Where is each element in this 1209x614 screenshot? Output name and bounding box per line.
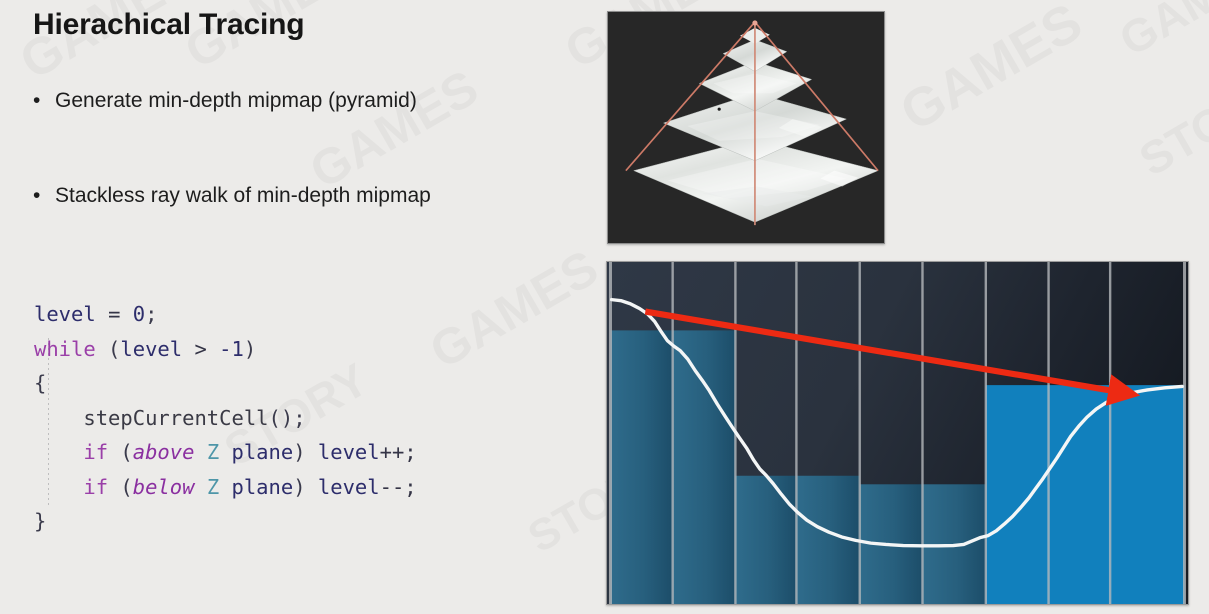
slide-root: GAMESGAMESGAMESGAMESSTORYSTORYGAMESGAMES… [0,0,1209,614]
code-token [96,302,108,326]
code-token: if [83,475,108,499]
code-token [34,475,83,499]
code-token: ++; [380,440,417,464]
depth-cell [986,385,1049,604]
code-token: below [133,475,195,499]
code-token [34,440,83,464]
watermark-text: GAMES [1110,0,1209,67]
code-token: level [318,475,380,499]
code-line: level = 0; [34,297,417,332]
code-line: if (above Z plane) level++; [34,435,417,470]
code-line: { [34,366,417,401]
depth-cell [1110,385,1184,604]
code-token [207,337,219,361]
code-token: level [120,337,182,361]
depth-cell [673,330,736,604]
code-token: ) [244,337,256,361]
depth-cell [610,330,672,604]
code-token: = [108,302,120,326]
code-token: --; [380,475,417,499]
depth-cell [1049,385,1111,604]
code-token [182,337,194,361]
watermark-text: GAMES [890,0,1093,144]
code-line: stepCurrentCell(); [34,401,417,436]
code-token: ; [145,302,157,326]
code-token: while [34,337,96,361]
code-token: 0 [133,302,145,326]
code-token: if [83,440,108,464]
depth-buffer-illustration [607,262,1188,604]
code-token [120,302,132,326]
code-token: level [34,302,96,326]
code-line: } [34,504,417,539]
code-token: > [194,337,206,361]
code-token: plane [232,475,294,499]
code-token: Z [207,475,219,499]
bullet-marker-icon: • [33,183,55,208]
list-item: • Generate min-depth mipmap (pyramid) [33,88,573,113]
code-token: } [34,509,46,533]
code-token [194,475,206,499]
code-block: level = 0;while (level > -1){ stepCurren… [34,297,417,539]
code-token: ( [108,475,133,499]
code-token [194,440,206,464]
code-token [34,406,83,430]
code-token: { [34,371,46,395]
code-token: level [318,440,380,464]
figure-mipmap-pyramid [607,11,885,244]
code-token [219,440,231,464]
code-token: stepCurrentCell [83,406,268,430]
code-token: ) [293,440,318,464]
bullet-marker-icon: • [33,88,55,113]
code-line: if (below Z plane) level--; [34,470,417,505]
code-token: above [133,440,195,464]
bullet-text: Stackless ray walk of min-depth mipmap [55,183,431,208]
bullet-list: • Generate min-depth mipmap (pyramid) • … [33,88,573,278]
code-token: ( [108,440,133,464]
figure-depth-buffer [606,261,1189,605]
code-token: (); [269,406,306,430]
depth-cell [735,476,796,604]
code-token: Z [207,440,219,464]
code-token [219,475,231,499]
code-token: plane [232,440,294,464]
pyramid-illustration [608,12,884,243]
code-token: ) [293,475,318,499]
code-line: while (level > -1) [34,332,417,367]
watermark-text: STORY [1130,62,1209,187]
page-title: Hierachical Tracing [33,8,304,42]
code-token: ( [96,337,121,361]
list-item: • Stackless ray walk of min-depth mipmap [33,183,573,208]
code-token: -1 [219,337,244,361]
bullet-text: Generate min-depth mipmap (pyramid) [55,88,417,113]
pyramid-apex-marker [752,20,757,25]
